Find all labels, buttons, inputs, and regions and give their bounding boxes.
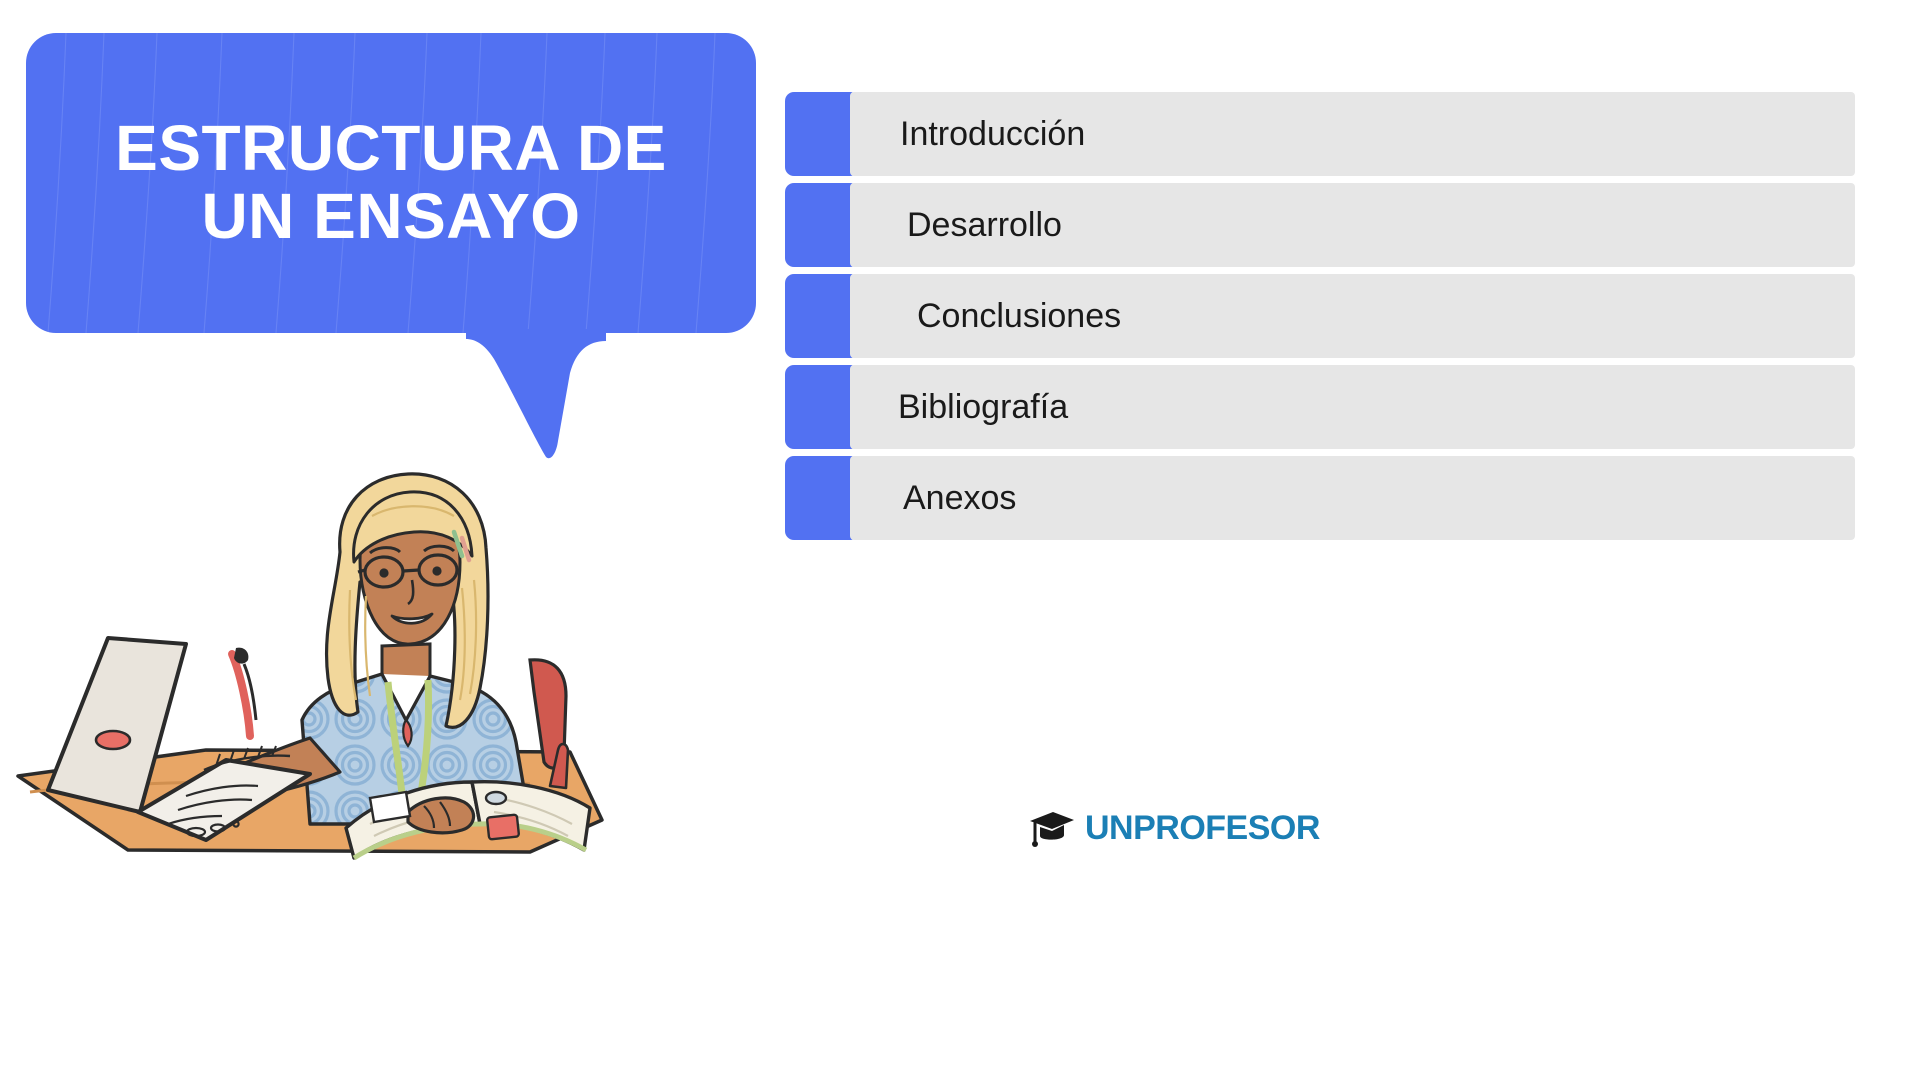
list-item-label: Bibliografía — [898, 365, 1068, 449]
list-item-marker — [785, 274, 859, 358]
list-item[interactable]: Bibliografía — [785, 365, 1855, 449]
title-line-1: ESTRUCTURA DE — [115, 115, 667, 183]
list-item-marker — [785, 365, 859, 449]
right-hand — [408, 798, 474, 833]
list-item-label: Introducción — [900, 92, 1085, 176]
slide-canvas: ESTRUCTURA DE UN ENSAYO — [0, 0, 1920, 1080]
graduation-cap-icon — [1028, 808, 1076, 848]
list-item-marker — [785, 92, 859, 176]
list-item-label: Anexos — [903, 456, 1016, 540]
list-item-marker — [785, 456, 859, 540]
logo-wordmark: UNPROFESOR — [1085, 811, 1320, 845]
list-item[interactable]: Conclusiones — [785, 274, 1855, 358]
list-item-marker — [785, 183, 859, 267]
list-item[interactable]: Desarrollo — [785, 183, 1855, 267]
pen — [232, 648, 256, 736]
essay-structure-list: Introducción Desarrollo Conclusiones Bib… — [785, 92, 1855, 547]
speech-bubble-body: ESTRUCTURA DE UN ENSAYO — [26, 33, 756, 333]
title-line-2: UN ENSAYO — [201, 183, 580, 251]
list-item-label: Desarrollo — [907, 183, 1062, 267]
page-title: ESTRUCTURA DE UN ENSAYO — [26, 33, 756, 333]
list-item-label: Conclusiones — [917, 274, 1121, 358]
student-illustration — [10, 420, 650, 880]
unprofesor-logo[interactable]: UNPROFESOR — [1028, 805, 1278, 851]
list-item[interactable]: Anexos — [785, 456, 1855, 540]
list-item[interactable]: Introducción — [785, 92, 1855, 176]
